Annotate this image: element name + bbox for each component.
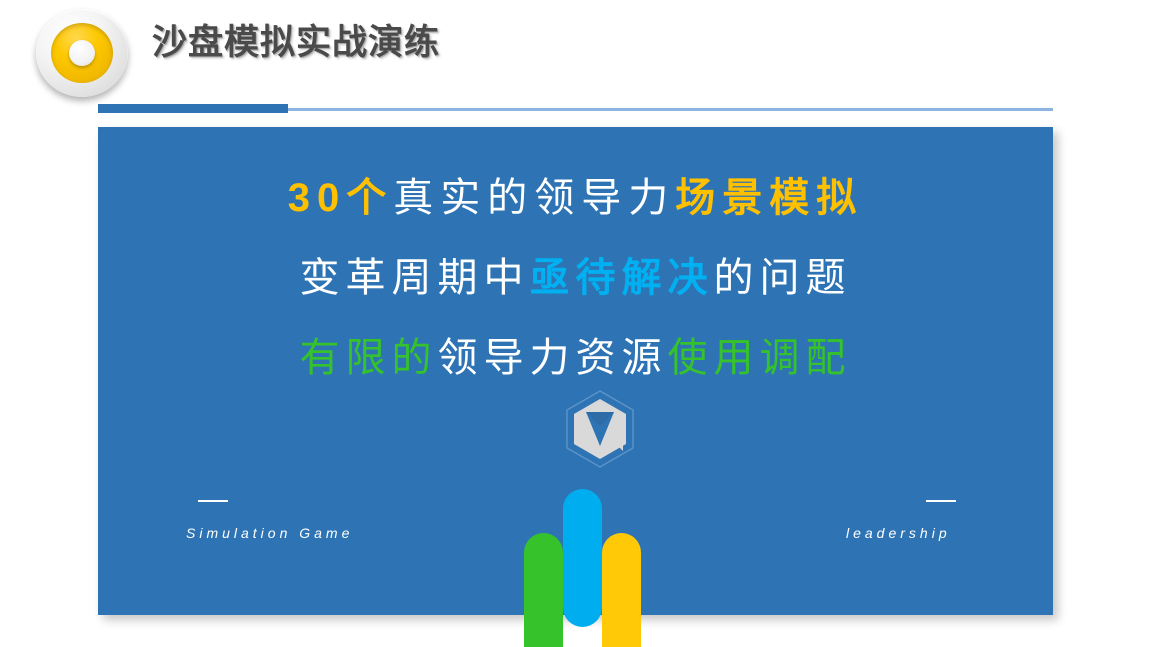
- headline-2-segment-1: 变革周期中: [300, 256, 530, 300]
- caption-rule-right: [926, 500, 956, 502]
- headline-2-segment-3: 的问题: [714, 256, 852, 300]
- target-center-dot: [69, 40, 95, 66]
- divider-thin-rule: [288, 108, 1053, 111]
- headline-3-segment-1: 有限的: [300, 336, 438, 380]
- caption-leadership: leadership: [846, 525, 951, 541]
- slide-root: 沙盘模拟实战演练 30个真实的领导力场景模拟 变革周期中亟待解决的问题 有限的领…: [0, 0, 1150, 647]
- headline-1-segment-1: 30个: [288, 176, 394, 220]
- headline-line-1: 30个真实的领导力场景模拟: [98, 158, 1053, 238]
- headline-1-segment-3: 场景模拟: [675, 176, 863, 220]
- headline-line-3: 有限的领导力资源使用调配: [98, 318, 1053, 398]
- headline-3-segment-2: 领导力资源: [438, 336, 668, 380]
- content-panel: 30个真实的领导力场景模拟 变革周期中亟待解决的问题 有限的领导力资源使用调配: [98, 127, 1053, 615]
- page-title: 沙盘模拟实战演练: [152, 20, 440, 66]
- divider-accent-bar: [98, 104, 288, 113]
- slide-header: 沙盘模拟实战演练: [0, 0, 1150, 104]
- hexagon-shield-arrow-icon: [560, 389, 640, 469]
- headline-line-2: 变革周期中亟待解决的问题: [98, 238, 1053, 318]
- caption-rule-left: [198, 500, 228, 502]
- caption-simulation-game: Simulation Game: [186, 525, 353, 541]
- headline-3-segment-3: 使用调配: [668, 336, 852, 380]
- bullseye-target-icon: [36, 9, 128, 97]
- headline-2-segment-2: 亟待解决: [530, 256, 714, 300]
- hexagon-fill-icon: [569, 398, 631, 460]
- headline-1-segment-2: 真实的领导力: [393, 176, 675, 220]
- headline-group: 30个真实的领导力场景模拟 变革周期中亟待解决的问题 有限的领导力资源使用调配: [98, 158, 1053, 398]
